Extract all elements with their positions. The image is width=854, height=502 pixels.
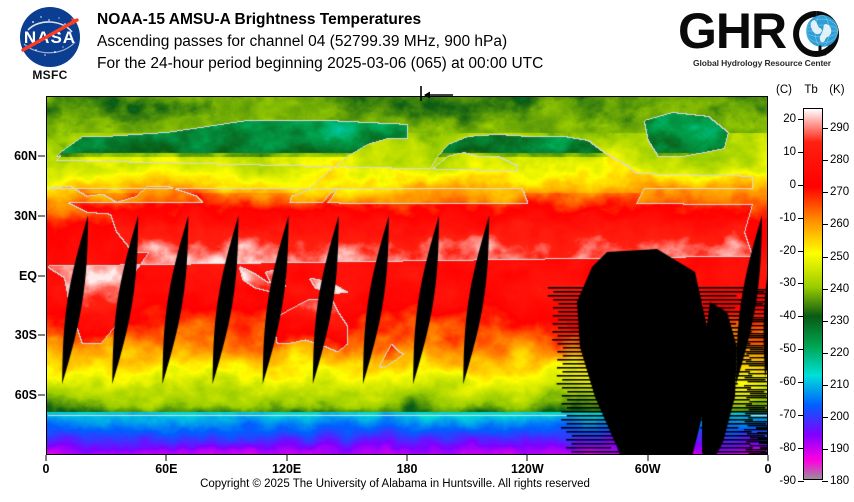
colorbar-kelvin-tick [822, 160, 828, 161]
colorbar-panel: (C) Tb (K) 20100-10-20-30-40-50-60-70-80… [776, 84, 854, 484]
colorbar-kelvin-label: 220 [830, 347, 849, 359]
colorbar-kelvin-tick [822, 321, 828, 322]
colorbar-celsius-label: -10 [779, 212, 796, 224]
left-arrow-marker-icon [415, 86, 455, 102]
colorbar-celsius-tick [798, 349, 804, 350]
colorbar-celsius-label: -30 [779, 277, 796, 289]
colorbar-celsius-tick [798, 382, 804, 383]
colorbar-celsius-tick [798, 481, 804, 482]
map-longitude-label: 120W [511, 462, 544, 476]
map-longitude-label: 60E [155, 462, 177, 476]
colorbar-celsius-unit: (C) [776, 84, 792, 96]
colorbar-celsius-tick [798, 283, 804, 284]
colorbar-kelvin-tick [822, 417, 828, 418]
map-panel[interactable]: 060E120E180120W60W060N30NEQ30S60S [46, 96, 768, 455]
colorbar-celsius-tick [798, 119, 804, 120]
map-latitude-label: EQ [19, 269, 37, 283]
colorbar-celsius-tick [798, 218, 804, 219]
map-x-tick [768, 455, 769, 461]
colorbar-kelvin-tick [822, 128, 828, 129]
colorbar-celsius-label: -40 [779, 310, 796, 322]
map-longitude-label: 60W [635, 462, 661, 476]
colorbar-celsius-tick [798, 415, 804, 416]
colorbar-kelvin-label: 280 [830, 154, 849, 166]
map-latitude-label: 30N [14, 209, 37, 223]
colorbar-celsius-label: -60 [779, 376, 796, 388]
colorbar-kelvin-label: 250 [830, 251, 849, 263]
map-longitude-label: 0 [43, 462, 50, 476]
colorbar-kelvin-tick [822, 385, 828, 386]
map-latitude-label: 30S [15, 328, 37, 342]
colorbar-celsius-tick [798, 448, 804, 449]
colorbar-kelvin-label: 210 [830, 379, 849, 391]
colorbar-header: (C) Tb (K) [776, 84, 854, 96]
map-longitude-label: 120E [272, 462, 301, 476]
map-y-tick [38, 215, 45, 216]
colorbar-celsius-tick [798, 152, 804, 153]
colorbar-kelvin-tick [822, 353, 828, 354]
colorbar-kelvin-label: 240 [830, 283, 849, 295]
colorbar-kelvin-label: 200 [830, 411, 849, 423]
nasa-meatball-icon: NASA [19, 6, 81, 68]
map-longitude-label: 180 [397, 462, 418, 476]
map-x-tick [647, 455, 648, 461]
map-x-tick [527, 455, 528, 461]
colorbar-kelvin-tick [822, 257, 828, 258]
colorbar-celsius-label: -80 [779, 442, 796, 454]
map-x-tick [46, 455, 47, 461]
map-latitude-label: 60S [15, 388, 37, 402]
map-x-tick [407, 455, 408, 461]
page-title: NOAA-15 AMSU-A Brightness Temperatures [97, 9, 667, 31]
colorbar-celsius-tick [798, 316, 804, 317]
map-longitude-label: 0 [765, 462, 772, 476]
colorbar-celsius-tick [798, 185, 804, 186]
map-y-tick [38, 395, 45, 396]
colorbar-celsius-label: 0 [790, 179, 796, 191]
map-y-tick [38, 335, 45, 336]
colorbar-kelvin-tick [822, 224, 828, 225]
colorbar-kelvin-tick [822, 289, 828, 290]
colorbar-kelvin-unit: (K) [829, 84, 844, 96]
map-latitude-label: 60N [14, 149, 37, 163]
nasa-logo: NASA MSFC [13, 6, 87, 86]
page-header: NASA MSFC NOAA-15 AMSU-A Brightness Temp… [0, 0, 854, 90]
ghrc-wordmark-icon: GHR [676, 4, 848, 60]
map-y-tick [38, 155, 45, 156]
colorbar-kelvin-tick [822, 449, 828, 450]
colorbar-kelvin-label: 260 [830, 218, 849, 230]
colorbar-celsius-label: -70 [779, 409, 796, 421]
colorbar-celsius-label: 10 [783, 146, 796, 158]
colorbar-kelvin-label: 180 [830, 475, 849, 487]
colorbar-kelvin-label: 290 [830, 122, 849, 134]
svg-text:GHR: GHR [678, 4, 787, 59]
colorbar-kelvin-label: 190 [830, 443, 849, 455]
colorbar-kelvin-tick [822, 481, 828, 482]
nasa-center-label: MSFC [13, 68, 87, 82]
map-x-tick [166, 455, 167, 461]
map-x-tick [286, 455, 287, 461]
colorbar-celsius-tick [798, 251, 804, 252]
title-subtitle-channel: Ascending passes for channel 04 (52799.3… [97, 31, 667, 53]
map-y-tick [38, 275, 45, 276]
colorbar-gradient [804, 109, 822, 479]
copyright-footer: Copyright © 2025 The University of Alaba… [0, 478, 790, 490]
title-subtitle-period: For the 24-hour period beginning 2025-03… [97, 53, 667, 75]
ghrc-subtitle: Global Hydrology Resource Center [676, 58, 848, 68]
brightness-temperature-map[interactable] [47, 97, 768, 455]
colorbar-kelvin-label: 270 [830, 186, 849, 198]
colorbar-kelvin-label: 230 [830, 315, 849, 327]
colorbar-celsius-label: -50 [779, 343, 796, 355]
colorbar-kelvin-tick [822, 192, 828, 193]
colorbar-celsius-label: 20 [783, 113, 796, 125]
title-block: NOAA-15 AMSU-A Brightness Temperatures A… [97, 9, 667, 75]
colorbar-symbol: Tb [804, 84, 817, 96]
colorbar-celsius-label: -20 [779, 245, 796, 257]
colorbar-scale: 20100-10-20-30-40-50-60-70-80-9029028027… [803, 108, 823, 480]
ghrc-logo: GHR Global Hydrology Resource Center [676, 4, 848, 80]
map-frame[interactable] [46, 96, 768, 455]
